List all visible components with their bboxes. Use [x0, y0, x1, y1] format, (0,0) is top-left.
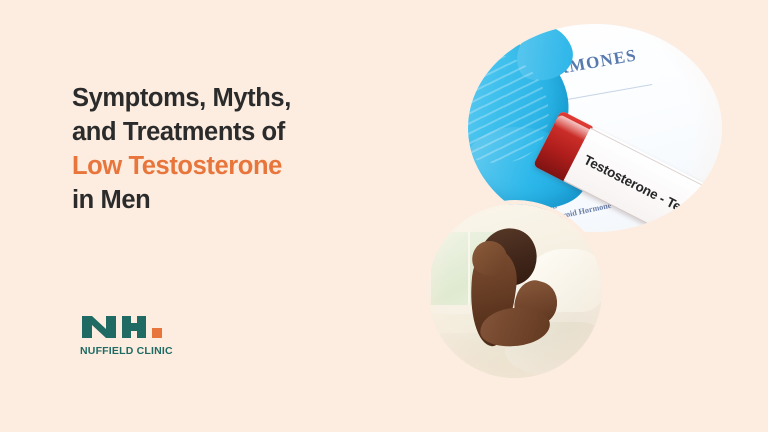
page-title: Symptoms, Myths, and Treatments of Low T… — [72, 82, 392, 218]
hormone-test-photo: patitis C ... HORMONES stradiol Progeste… — [468, 24, 722, 232]
form-bubble — [721, 49, 722, 61]
logo-wordmark: NUFFIELD CLINIC — [80, 345, 200, 357]
bedroom-scene — [428, 204, 602, 378]
nuffield-clinic-logo-icon — [80, 314, 176, 340]
distressed-man-photo — [428, 204, 602, 378]
headline-line-4: in Men — [72, 184, 392, 218]
brand-logo[interactable]: NUFFIELD CLINIC — [80, 314, 200, 357]
headline-line-1: Symptoms, Myths, — [72, 82, 392, 116]
article-hero-banner: Symptoms, Myths, and Treatments of Low T… — [0, 0, 768, 432]
form-bubble-column — [717, 34, 722, 105]
form-bubble — [717, 34, 722, 46]
lab-scene: patitis C ... HORMONES stradiol Progeste… — [468, 24, 722, 232]
headline-line-3-accent: Low Testosterone — [72, 150, 392, 184]
headline-block: Symptoms, Myths, and Treatments of Low T… — [72, 82, 392, 218]
headline-line-2: and Treatments of — [72, 116, 392, 150]
